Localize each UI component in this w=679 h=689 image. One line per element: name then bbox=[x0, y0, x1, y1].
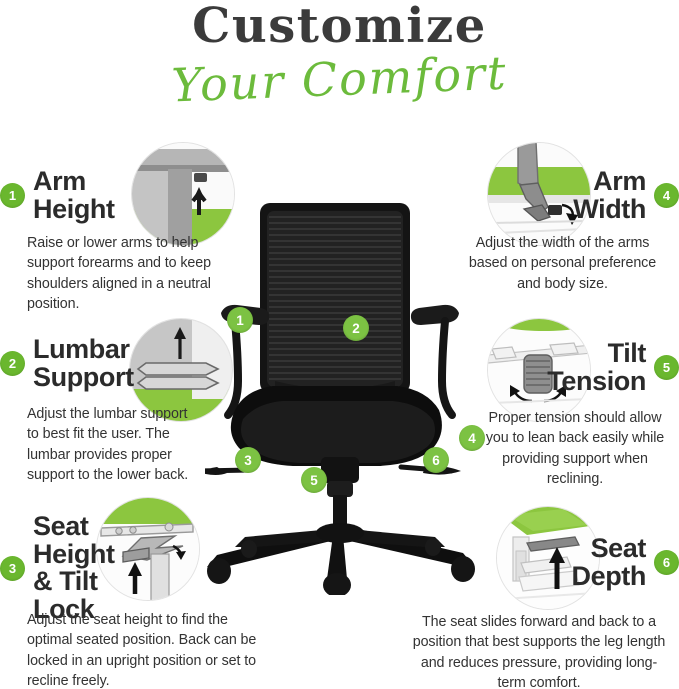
title-line-1: Seat bbox=[33, 513, 160, 541]
feature-badge-5: 5 bbox=[654, 355, 679, 380]
feature-title-lumbar-support: Lumbar Support bbox=[33, 336, 134, 391]
chair-marker-6[interactable]: 6 bbox=[423, 447, 449, 473]
feature-badge-3: 3 bbox=[0, 556, 25, 581]
page-subtitle: Your Comfort bbox=[0, 42, 679, 116]
feature-badge-1: 1 bbox=[0, 183, 25, 208]
feature-badge-4: 4 bbox=[654, 183, 679, 208]
title-line-2: Depth bbox=[572, 563, 647, 591]
feature-card-tilt-tension: Tilt Tension 5 bbox=[527, 340, 679, 395]
title-line-2: Height bbox=[33, 196, 115, 224]
title-line-1: Arm bbox=[33, 168, 115, 196]
feature-title-arm-width: Arm Width bbox=[573, 168, 646, 223]
feature-title-seat-depth: Seat Depth bbox=[572, 535, 647, 590]
title-line-2: Width bbox=[573, 196, 646, 224]
title-line-1: Arm bbox=[573, 168, 646, 196]
feature-body-arm-width: Adjust the width of the arms based on pe… bbox=[460, 233, 665, 294]
title-line-2: Support bbox=[33, 364, 134, 392]
office-chair-illustration: 1 2 3 4 5 6 bbox=[205, 195, 475, 595]
feature-card-seat-depth: Seat Depth 6 bbox=[529, 535, 679, 590]
chair-marker-2[interactable]: 2 bbox=[343, 315, 369, 341]
title-line-1: Tilt bbox=[547, 340, 646, 368]
feature-body-arm-height: Raise or lower arms to help support fore… bbox=[27, 233, 227, 314]
feature-body-tilt-tension: Proper tension should allow you to lean … bbox=[480, 408, 670, 489]
feature-title-arm-height: Arm Height bbox=[33, 168, 115, 223]
feature-title-seat-height: Seat Height & Tilt Lock bbox=[33, 513, 160, 623]
feature-badge-6: 6 bbox=[654, 550, 679, 575]
chair-marker-3[interactable]: 3 bbox=[235, 447, 261, 473]
feature-badge-2: 2 bbox=[0, 351, 25, 376]
title-line-1: Lumbar bbox=[33, 336, 134, 364]
feature-body-lumbar-support: Adjust the lumbar support to best fit th… bbox=[27, 404, 197, 485]
feature-body-seat-depth: The seat slides forward and back to a po… bbox=[408, 612, 670, 689]
chair-marker-1[interactable]: 1 bbox=[227, 307, 253, 333]
chair-marker-5[interactable]: 5 bbox=[301, 467, 327, 493]
feature-card-arm-height: 1 Arm Height bbox=[0, 168, 130, 223]
chair-marker-4[interactable]: 4 bbox=[459, 425, 485, 451]
feature-body-seat-height: Adjust the seat height to find the optim… bbox=[27, 610, 277, 689]
feature-title-tilt-tension: Tilt Tension bbox=[547, 340, 646, 395]
page-title: Customize bbox=[0, 2, 679, 50]
title-line-1: Seat bbox=[572, 535, 647, 563]
feature-card-lumbar-support: 2 Lumbar Support bbox=[0, 336, 132, 391]
title-line-2: Tension bbox=[547, 368, 646, 396]
feature-card-seat-height: 3 Seat Height & Tilt Lock bbox=[0, 513, 160, 623]
feature-card-arm-width: Arm Width 4 bbox=[549, 168, 679, 223]
title-line-2: Height bbox=[33, 541, 160, 569]
infographic-page: Customize Your Comfort 1 Arm Height Rais… bbox=[0, 0, 679, 689]
